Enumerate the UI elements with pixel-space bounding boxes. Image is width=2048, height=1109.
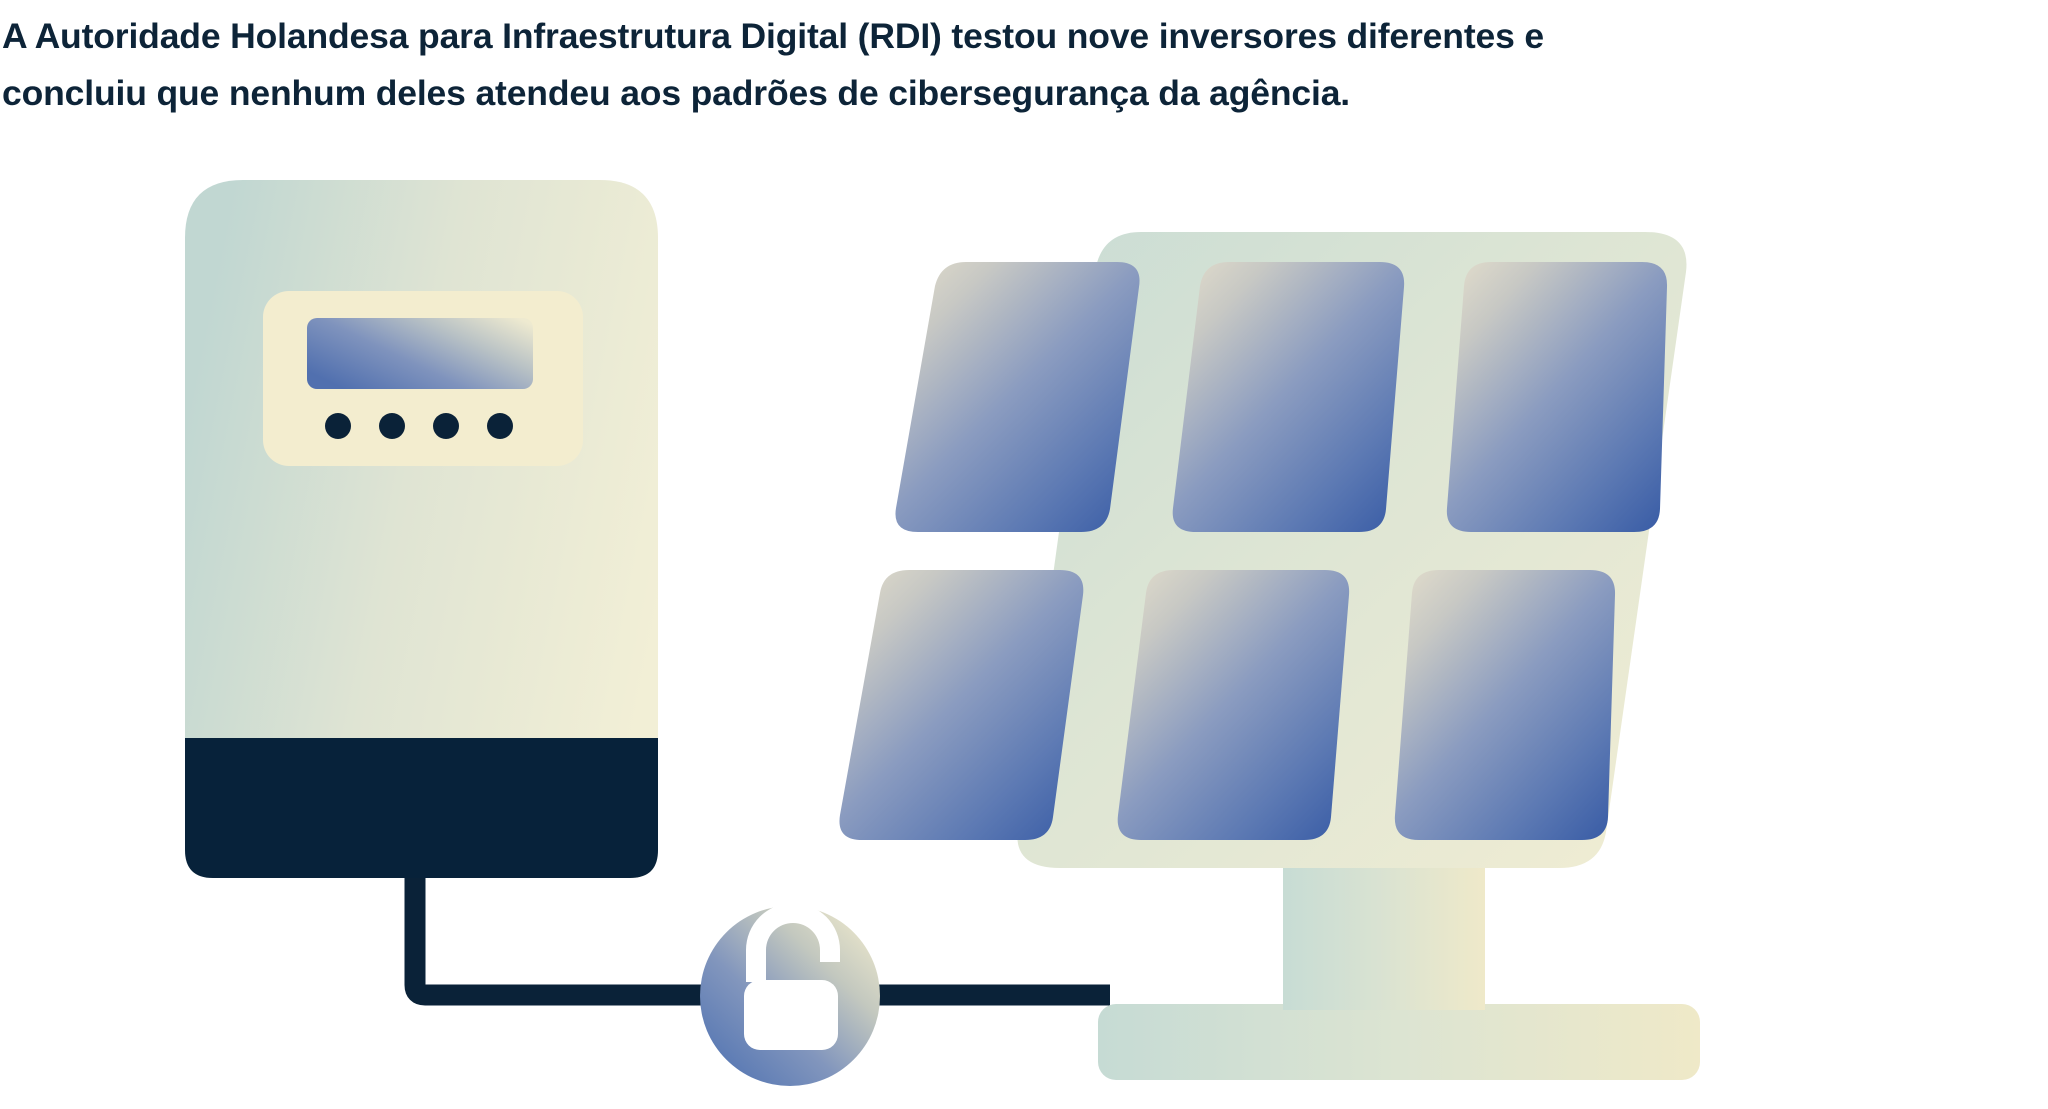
illustration-svg bbox=[0, 0, 2048, 1109]
inverter-led-1 bbox=[325, 413, 351, 439]
solar-panel-pole bbox=[1283, 862, 1485, 1010]
solar-cell-1 bbox=[895, 262, 1139, 532]
inverter-screen bbox=[307, 318, 533, 389]
solar-panel-assembly bbox=[838, 232, 1700, 1080]
solar-cell-5 bbox=[1118, 570, 1349, 840]
illustration-canvas bbox=[0, 0, 2048, 1109]
inverter-led-2 bbox=[379, 413, 405, 439]
inverter-base-strip bbox=[185, 738, 658, 878]
padlock-body bbox=[744, 980, 838, 1050]
solar-cell-4 bbox=[839, 570, 1083, 840]
inverter-led-3 bbox=[433, 413, 459, 439]
solar-cell-3 bbox=[1447, 262, 1667, 532]
unlocked-padlock-badge bbox=[700, 903, 880, 1086]
inverter-led-4 bbox=[487, 413, 513, 439]
solar-panel-base bbox=[1098, 1004, 1700, 1080]
solar-cell-6 bbox=[1395, 570, 1615, 840]
solar-cell-2 bbox=[1173, 262, 1404, 532]
solar-inverter bbox=[185, 180, 658, 878]
